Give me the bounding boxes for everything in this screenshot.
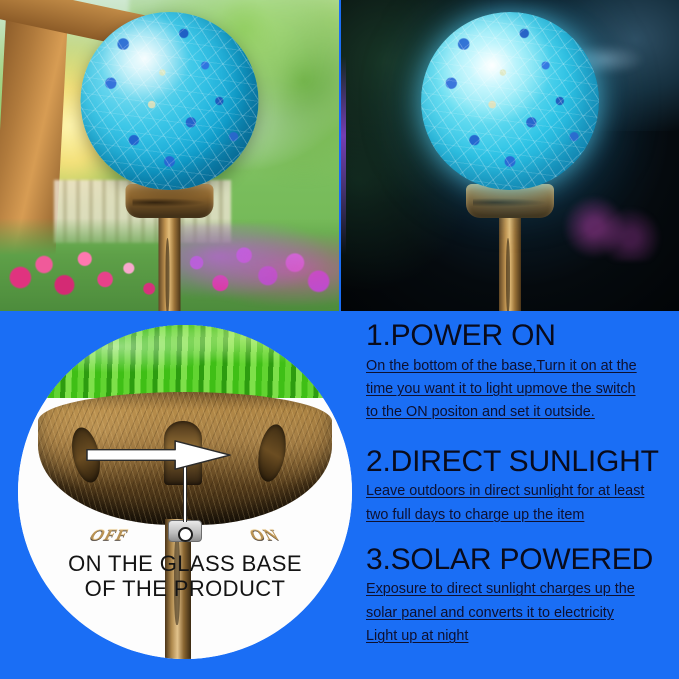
globe-assembly-night: [341, 0, 679, 311]
step-body: Exposure to direct sunlight charges up t…: [366, 578, 672, 648]
step-title: 1.POWER ON: [366, 319, 672, 353]
glass-globe-illuminated: [421, 12, 599, 190]
green-glass-globe-bottom: [18, 325, 352, 398]
glass-crackle-texture: [421, 12, 599, 190]
spacer: [366, 427, 672, 445]
circle-caption-line-2: OF THE PRODUCT: [18, 577, 352, 602]
switch-detail-circle: OFF ON ON THE GLASS BASE OF THE PRODUCT: [18, 325, 352, 659]
step-line: to the ON positon and set it outside.: [366, 401, 672, 424]
step-power-on: 1.POWER ON On the bottom of the base,Tur…: [366, 319, 672, 425]
steps-list: 1.POWER ON On the bottom of the base,Tur…: [366, 319, 672, 650]
step-line: two full days to charge up the item: [366, 504, 672, 527]
step-title: 2.DIRECT SUNLIGHT: [366, 445, 672, 479]
step-line: time you want it to light upmove the swi…: [366, 378, 672, 401]
step-body: Leave outdoors in direct sunlight for at…: [366, 480, 672, 527]
step-title: 3.SOLAR POWERED: [366, 543, 672, 577]
direction-arrow-icon: [85, 440, 232, 470]
step-line: Leave outdoors in direct sunlight for at…: [366, 480, 672, 503]
infographic-page: OFF ON ON THE GLASS BASE OF THE PRODUCT …: [0, 0, 679, 679]
globe-assembly-day: [0, 0, 339, 311]
spacer: [366, 529, 672, 543]
pointer-dot: [178, 527, 193, 542]
step-line: Exposure to direct sunlight charges up t…: [366, 578, 672, 601]
ground-stake: [499, 216, 521, 311]
step-line: solar panel and converts it to electrici…: [366, 602, 672, 625]
step-solar-powered: 3.SOLAR POWERED Exposure to direct sunli…: [366, 543, 672, 649]
nighttime-glowing-photo: [341, 0, 679, 311]
glass-crackle-texture: [81, 12, 259, 190]
step-line: Light up at night: [366, 625, 672, 648]
product-photo-strip: [0, 0, 679, 311]
instructions-section: OFF ON ON THE GLASS BASE OF THE PRODUCT …: [0, 311, 679, 679]
ground-stake: [159, 216, 181, 311]
circle-caption: ON THE GLASS BASE OF THE PRODUCT: [18, 552, 352, 601]
step-direct-sunlight: 2.DIRECT SUNLIGHT Leave outdoors in dire…: [366, 445, 672, 527]
circle-caption-line-1: ON THE GLASS BASE: [18, 552, 352, 577]
daytime-garden-photo: [0, 0, 339, 311]
step-body: On the bottom of the base,Turn it on at …: [366, 355, 672, 425]
glass-globe: [81, 12, 259, 190]
step-line: On the bottom of the base,Turn it on at …: [366, 355, 672, 378]
